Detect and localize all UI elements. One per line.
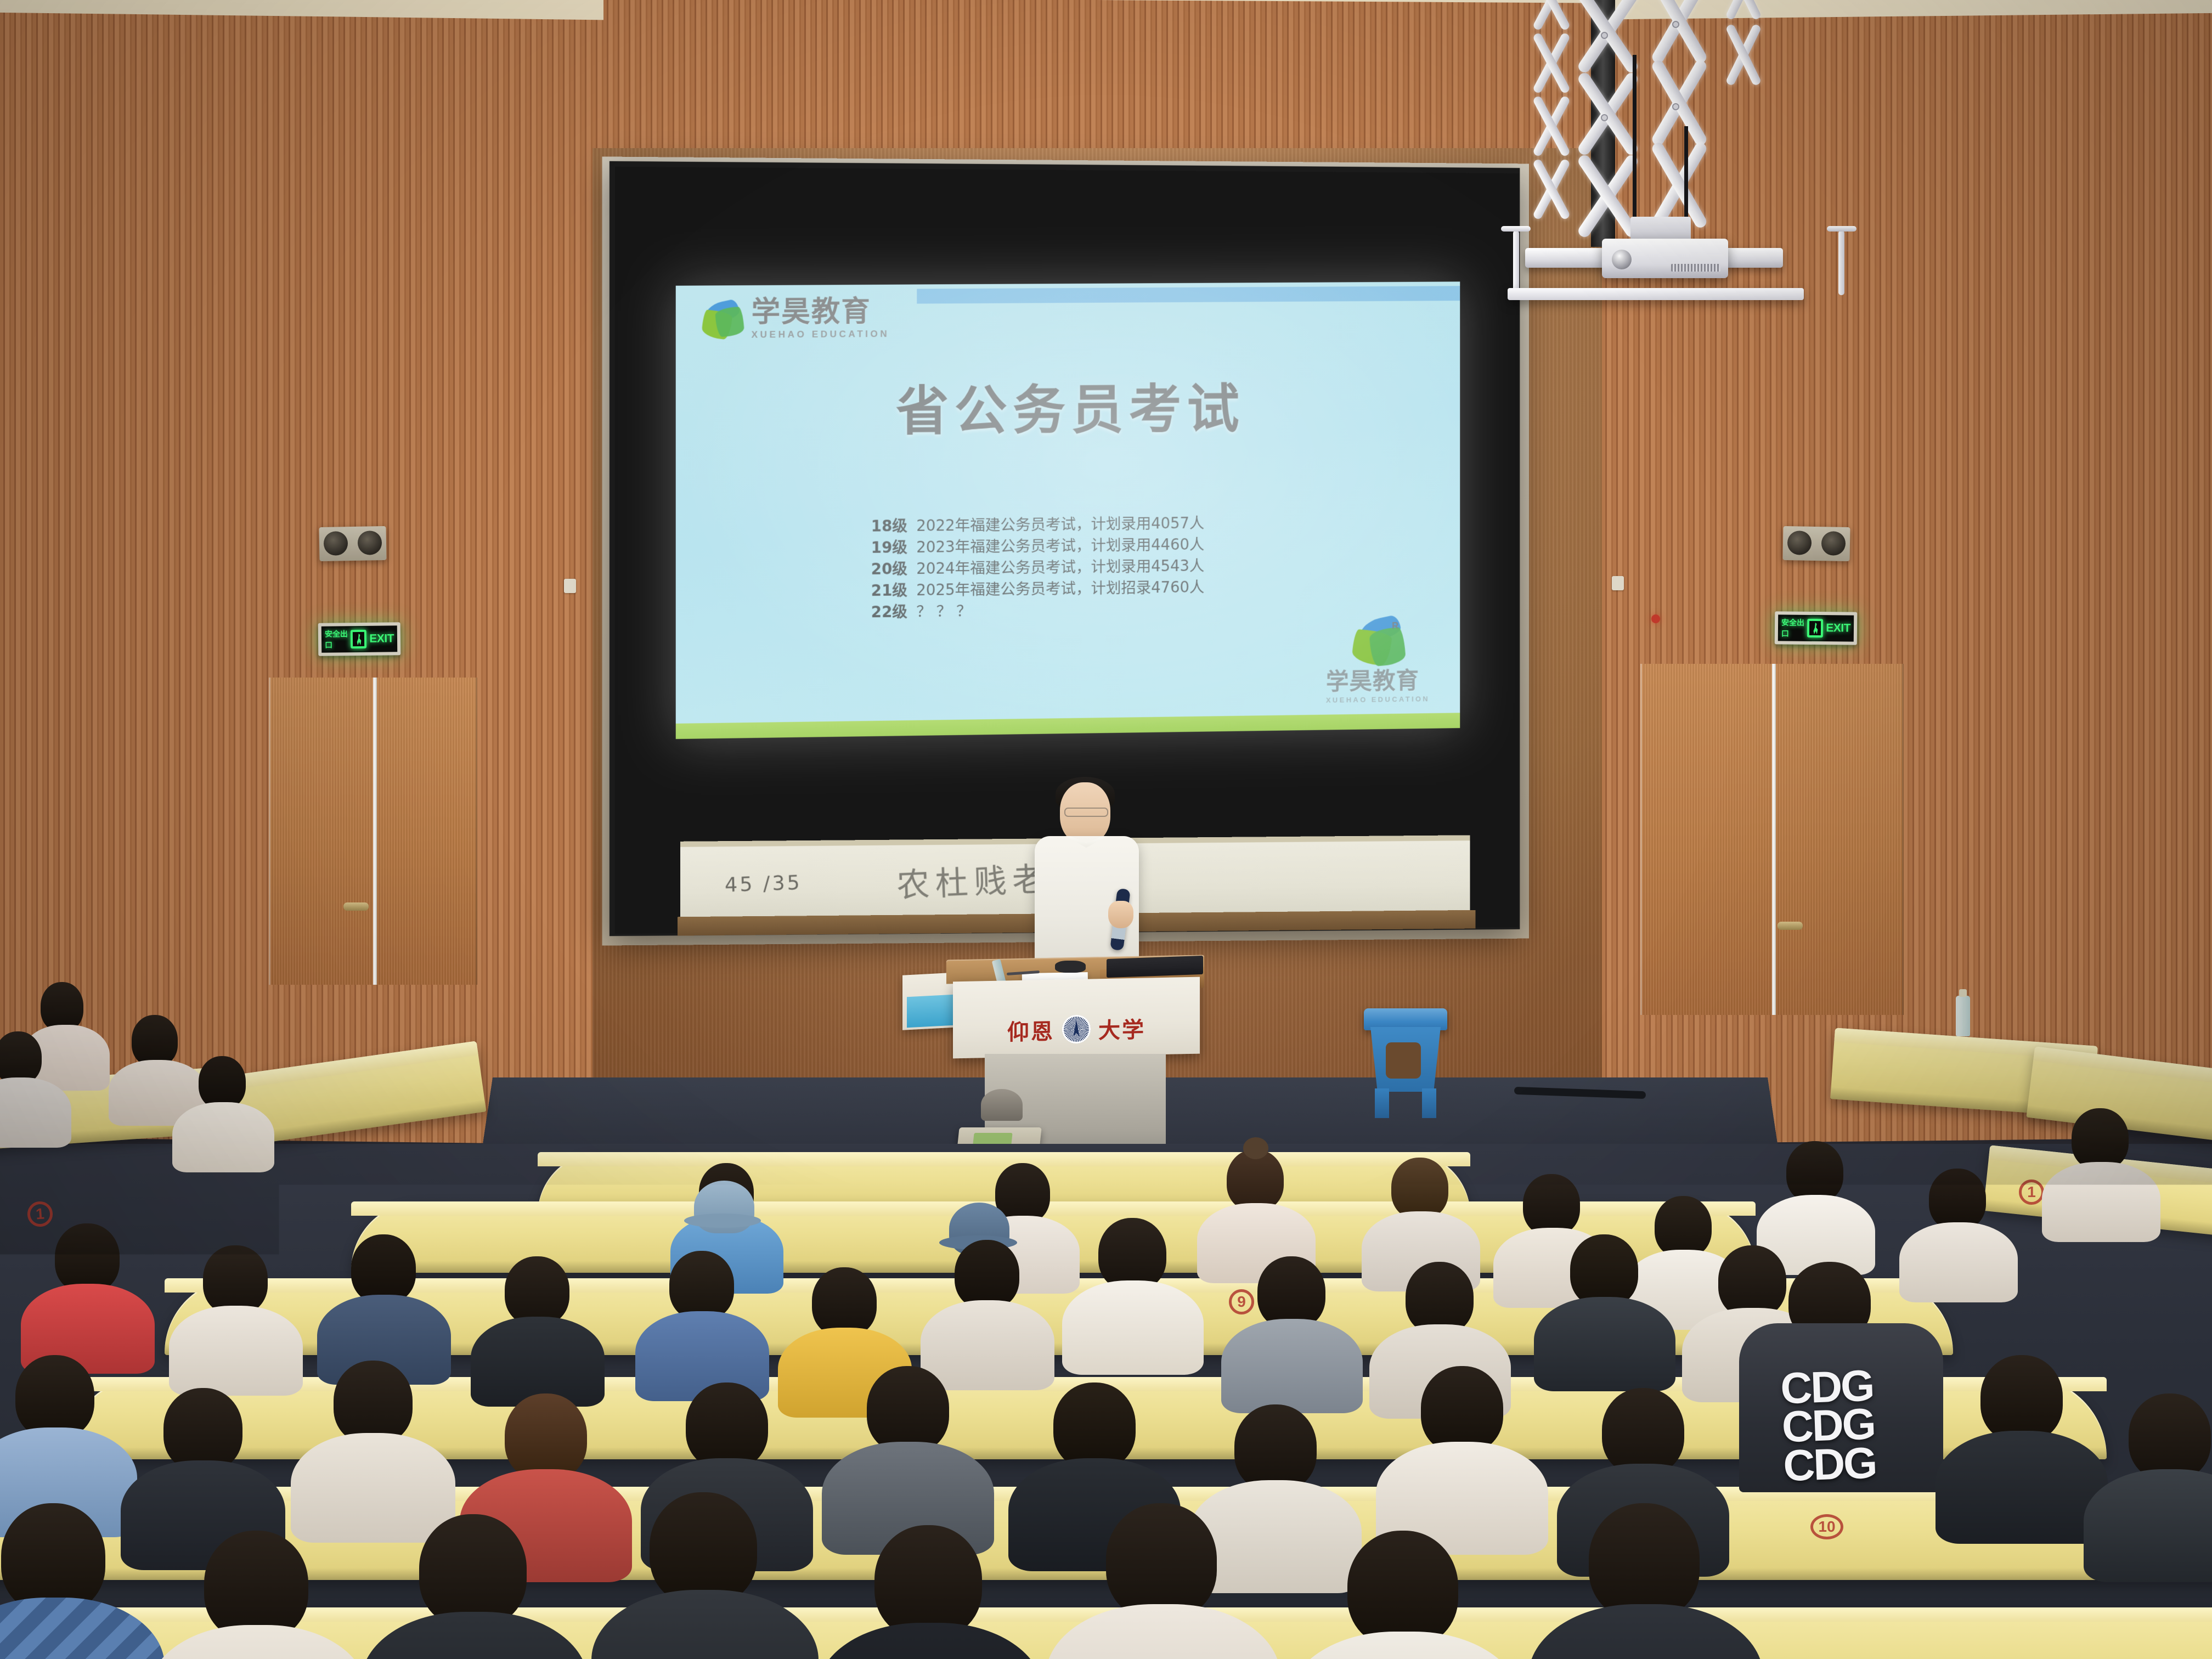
- slide-list-item: 20级2024年福建公务员考试，计划录用4543人: [871, 556, 1205, 581]
- row-marker-upper-right: 1: [2019, 1180, 2044, 1205]
- projector: [1602, 239, 1728, 278]
- scissor-pin: [1672, 103, 1679, 110]
- audience-member: [1547, 1234, 1662, 1388]
- slide-brand-name-en-br: XUEHAO EDUCATION: [1326, 695, 1430, 703]
- slide-list-item: 19级2023年福建公务员考试，计划录用4460人: [871, 534, 1205, 559]
- slide-list-text: 2022年福建公务员考试，计划录用4057人: [916, 515, 1204, 535]
- keyboard-tray[interactable]: [1107, 956, 1203, 978]
- projector-power-cable: [1633, 55, 1637, 236]
- audience-member-front-row: [839, 1525, 1020, 1659]
- slide-list-grade: 22级: [871, 601, 917, 623]
- water-bottle-on-bench[interactable]: [1956, 996, 1970, 1036]
- wall-outlet-right[interactable]: [1612, 576, 1624, 590]
- wall-speaker-left: [319, 526, 386, 561]
- slide-list-text: 2023年福建公务员考试，计划录用4460人: [916, 536, 1204, 556]
- exit-sign-right-label-en: EXIT: [1826, 622, 1850, 635]
- university-nameplate: 仰恩 大学: [953, 1011, 1200, 1048]
- university-seal-icon: [1062, 1015, 1091, 1044]
- cap-brim-icon: [684, 1214, 761, 1228]
- audience-member: [33, 1223, 143, 1372]
- slide-body-list: 18级2022年福建公务员考试，计划录用4057人 19级2023年福建公务员考…: [871, 513, 1205, 624]
- exit-sign-left-label-cn: 安全出口: [325, 628, 348, 650]
- door-right-seam: [1772, 664, 1776, 1015]
- scissor-pin: [1672, 21, 1679, 28]
- scissor-pin: [1601, 32, 1608, 39]
- university-name-left: 仰恩: [1007, 1014, 1054, 1047]
- presentation-slide: 学昊教育 XUEHAO EDUCATION 省公务员考试 18级2022年福建公…: [676, 281, 1460, 739]
- wall-speaker-right: [1782, 526, 1850, 561]
- audience-member: [839, 1366, 977, 1553]
- door-right-handle[interactable]: [1778, 922, 1803, 930]
- slide-list-item: 21级2025年福建公务员考试，计划招录4760人: [871, 577, 1205, 602]
- audience-member-front-row: [1070, 1503, 1256, 1659]
- slide-list-item: 18级2022年福建公务员考试，计划录用4057人: [871, 513, 1205, 538]
- shelf-cap-right: [1827, 226, 1857, 232]
- shelf-post-left: [1513, 230, 1519, 295]
- leaf-logo-icon: R: [1348, 613, 1407, 670]
- slide-list-text: 2025年福建公务员考试，计划招录4760人: [916, 578, 1204, 599]
- black-object-on-lectern[interactable]: [1055, 961, 1086, 973]
- slide-title: 省公务员考试: [676, 364, 1460, 447]
- slide-logo-top-left: 学昊教育 XUEHAO EDUCATION: [701, 297, 889, 340]
- audience-member: [0, 1031, 60, 1141]
- audience-member-front-row: [2030, 1509, 2212, 1659]
- slide-brand-name-en: XUEHAO EDUCATION: [752, 329, 890, 340]
- lecture-hall-scene: 安全出口 EXIT 安全出口 EXIT 学昊教育 XUEHAO EDUCATIO…: [0, 0, 2212, 1659]
- running-person-icon: [351, 630, 366, 648]
- projector-lens-icon: [1612, 250, 1632, 269]
- slide-list-text: ？ ？ ？: [916, 602, 971, 620]
- registered-trademark-icon: R: [1392, 620, 1398, 631]
- slide-brand-name-cn-br: 学昊教育: [1326, 669, 1430, 693]
- audience-member-front-row: [170, 1531, 346, 1659]
- audience-member: [1075, 1218, 1190, 1372]
- audience-member-with-cap: [678, 1174, 782, 1256]
- ceiling-projector-rig: [1503, 0, 1854, 461]
- audience-member-front-row: [1794, 1525, 1980, 1659]
- exit-sign-left-label-en: EXIT: [369, 632, 394, 645]
- audience-member-front-row: [1553, 1503, 1739, 1659]
- audience-member: [1393, 1366, 1531, 1553]
- audience-member-front-row: [0, 1503, 143, 1659]
- indicator-light-red: [1651, 614, 1660, 623]
- glasses-icon: [1064, 808, 1108, 817]
- whiteboard-note-text: 农杜贱老: [896, 853, 1052, 907]
- projector-lift-shelf: [1508, 288, 1804, 300]
- slide-list-grade: 20级: [871, 558, 917, 580]
- plastic-stool[interactable]: [1362, 1008, 1449, 1118]
- door-right[interactable]: [1640, 664, 1904, 1015]
- slide-list-grade: 21级: [871, 580, 917, 602]
- audience-member: [1234, 1256, 1350, 1410]
- slide-brand-wordmark-br: 学昊教育 XUEHAO EDUCATION: [1326, 669, 1430, 704]
- door-left[interactable]: [269, 678, 477, 985]
- slide-accent-bar: [917, 286, 1460, 303]
- audience-member-front-row: [384, 1514, 565, 1659]
- stool-cutout: [1386, 1042, 1421, 1079]
- wall-outlet-left[interactable]: [564, 579, 576, 593]
- audience-member: [2052, 1108, 2151, 1240]
- slide-brand-name-cn: 学昊教育: [752, 297, 890, 327]
- lectern-front-panel: 仰恩 大学: [953, 977, 1200, 1059]
- waste-bin: [981, 1089, 1023, 1121]
- slide-list-text: 2024年福建公务员考试，计划录用4543人: [916, 557, 1204, 578]
- presenter: [1031, 779, 1147, 977]
- shelf-post-right: [1838, 230, 1844, 295]
- audience-member: [181, 1245, 291, 1393]
- audience-member-cdg-shirt: CDG CDG CDG: [1750, 1262, 1931, 1492]
- door-left-seam: [373, 678, 377, 985]
- leaf-logo-icon: [701, 297, 743, 340]
- exit-sign-left: 安全出口 EXIT: [318, 622, 401, 656]
- audience-member: [483, 1256, 592, 1404]
- cdg-shirt-graphic: CDG CDG CDG: [1780, 1365, 1921, 1486]
- slide-logo-bottom-right: R 学昊教育 XUEHAO EDUCATION: [1326, 612, 1430, 703]
- whiteboard-note-number: 45 /35: [725, 871, 803, 896]
- slide-brand-wordmark: 学昊教育 XUEHAO EDUCATION: [752, 297, 890, 340]
- audience-member: [647, 1251, 757, 1399]
- university-name-right: 大学: [1098, 1012, 1145, 1045]
- exit-sign-right: 安全出口 EXIT: [1775, 611, 1858, 645]
- door-left-handle[interactable]: [343, 902, 369, 911]
- stool-leg-right: [1422, 1088, 1436, 1118]
- audience-member-front-row: [1311, 1531, 1498, 1659]
- audience-member-front-row: [614, 1492, 795, 1659]
- audience-member: [181, 1056, 263, 1166]
- scissor-pin: [1601, 114, 1608, 121]
- slide-list-item: 22级？ ？ ？: [871, 598, 1205, 623]
- presenter-hand: [1108, 901, 1133, 928]
- shelf-cap-left: [1501, 226, 1531, 232]
- exit-sign-right-label-cn: 安全出口: [1781, 617, 1805, 639]
- running-person-icon: [1807, 619, 1823, 637]
- slide-list-grade: 19级: [871, 537, 917, 559]
- stool-leg-left: [1375, 1088, 1389, 1118]
- slide-list-grade: 18级: [871, 516, 917, 538]
- projector-vent: [1671, 264, 1720, 272]
